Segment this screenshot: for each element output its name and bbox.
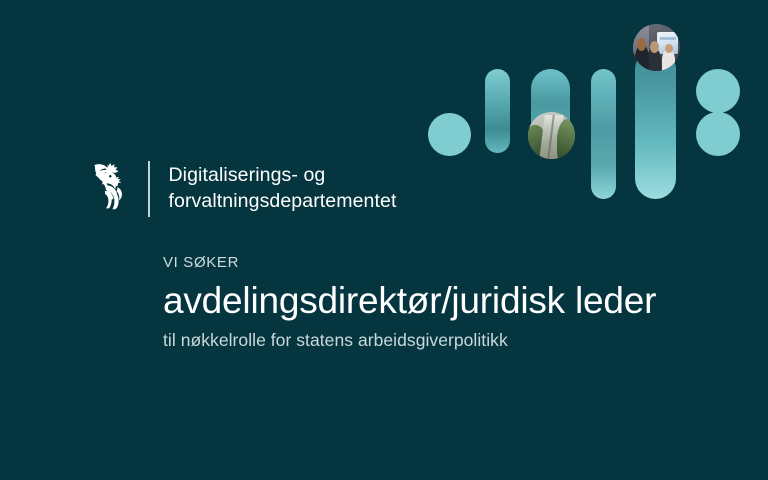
meeting-presenter: [662, 50, 675, 71]
brand-lockup: Digitaliserings- og forvaltningsdepartem…: [88, 160, 396, 218]
job-subtitle: til nøkkelrolle for statens arbeidsgiver…: [163, 330, 723, 351]
photo-roof-image: [528, 112, 575, 159]
meeting-attendee-2: [647, 48, 661, 72]
photo-meeting-image: [633, 24, 680, 71]
meeting-attendee-1: [635, 45, 649, 71]
photo-roof: [528, 112, 575, 159]
decor-circle-7: [696, 112, 740, 156]
decor-circle-6: [696, 69, 740, 113]
brand-divider: [148, 161, 150, 217]
department-name: Digitaliserings- og forvaltningsdepartem…: [169, 163, 397, 214]
decor-circle-1: [428, 113, 471, 156]
norwegian-coat-of-arms-icon: [88, 160, 132, 218]
roof-ridge-shape: [539, 115, 563, 159]
job-title-headline: avdelingsdirektør/juridisk leder: [163, 280, 723, 321]
decor-pill-5: [635, 49, 676, 199]
decor-pill-4: [591, 69, 616, 199]
job-ad-copy: VI SØKER avdelingsdirektør/juridisk lede…: [163, 255, 723, 351]
decor-pill-2: [485, 69, 510, 153]
photo-meeting: [633, 24, 680, 71]
slide-canvas: Digitaliserings- og forvaltningsdepartem…: [0, 0, 768, 480]
eyebrow-label: VI SØKER: [163, 255, 723, 272]
